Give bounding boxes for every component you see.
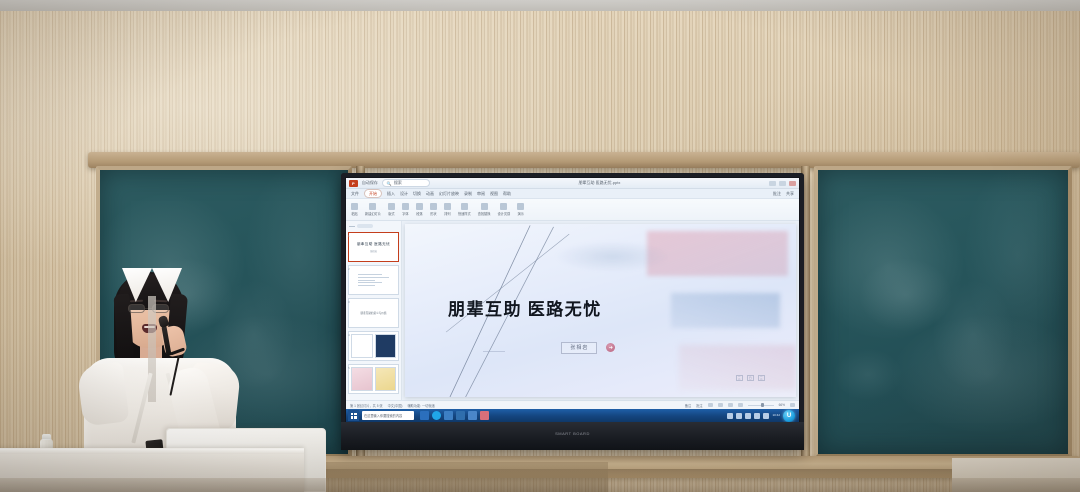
lecture-hall-scene: P 自动保存 🔍 搜索 朋辈互助 医路无忧.pptx — [0, 0, 1080, 492]
display-bezel — [341, 173, 804, 450]
interactive-display[interactable]: P 自动保存 🔍 搜索 朋辈互助 医路无忧.pptx — [341, 173, 804, 450]
lectern-edge — [0, 449, 304, 454]
blackboard-panel-right — [814, 166, 1072, 458]
floor-shadow-strip — [0, 478, 1080, 492]
button-placket — [148, 296, 156, 402]
display-chin: SMART BOARD — [341, 422, 804, 450]
glasses-lens-left — [128, 304, 145, 313]
shoulder-left — [77, 361, 130, 426]
display-brand-label: SMART BOARD — [555, 431, 590, 436]
